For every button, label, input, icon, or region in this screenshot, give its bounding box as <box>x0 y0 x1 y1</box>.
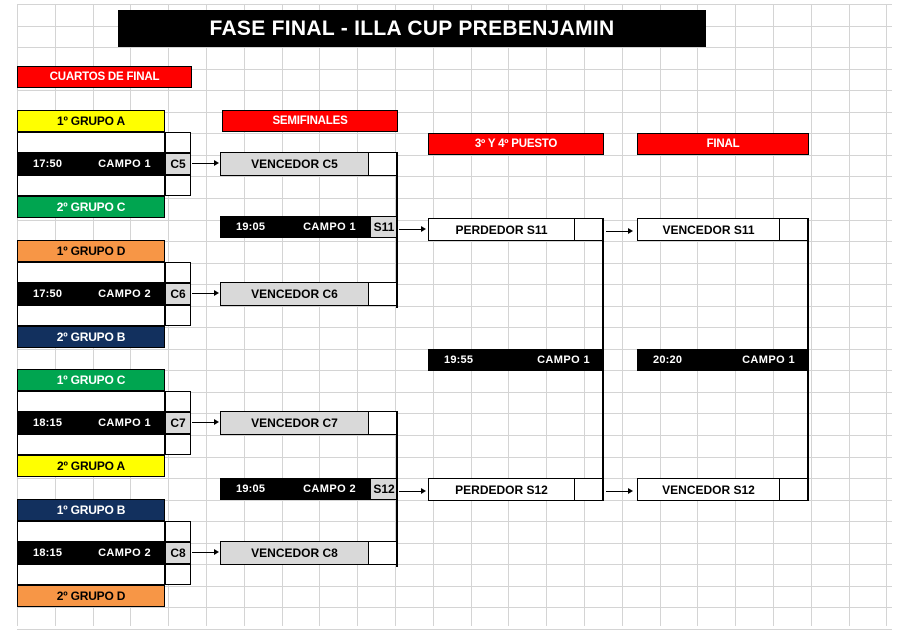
third-place-bottom-slot-label: PERDEDOR S12 <box>429 479 574 500</box>
third-place-bottom-score[interactable] <box>574 479 603 500</box>
arrow-c5-to-sf1-top <box>192 160 219 166</box>
qf-2-code-bottom-pad <box>165 305 191 326</box>
qf-1-code-bottom-pad <box>165 175 191 196</box>
sf-1-time: 19:05 <box>220 221 265 233</box>
final-bottom-slot-label: VENCEDOR S12 <box>638 479 779 500</box>
qf-2-bottom-team-label: 2º GRUPO B <box>57 330 125 344</box>
qf-2-top-team: 1º GRUPO D <box>17 240 165 262</box>
qf-1-field: CAMPO 1 <box>98 158 165 170</box>
qf-4-code-top-pad <box>165 521 191 542</box>
sf-1-bottom-slot-label: VENCEDOR C6 <box>221 283 368 305</box>
qf-3-top-score-cell[interactable] <box>17 391 165 412</box>
arrow-c7-to-sf2-top <box>192 419 219 425</box>
qf-1-bottom-team-label: 2º GRUPO C <box>57 200 125 214</box>
sf-2-code-label: S12 <box>373 482 394 496</box>
final-top-score[interactable] <box>779 219 808 240</box>
qf-4-code-label: C8 <box>170 546 185 560</box>
stage-header-semifinals-label: SEMIFINALES <box>272 115 347 127</box>
qf-1-code-top-pad <box>165 132 191 153</box>
qf-1-code-label: C5 <box>170 157 185 171</box>
stage-header-quarterfinals: CUARTOS DE FINAL <box>17 66 192 88</box>
stage-header-final: FINAL <box>637 133 809 155</box>
qf-1-matchbar: 17:50 CAMPO 1 <box>17 153 165 175</box>
qf-1-top-team-label: 1º GRUPO A <box>57 114 125 128</box>
sf-2-time: 19:05 <box>220 483 265 495</box>
third-place-top-slot: PERDEDOR S11 <box>428 218 604 241</box>
qf-2-field: CAMPO 2 <box>98 288 165 300</box>
sf-2-top-score[interactable] <box>368 412 397 434</box>
sf-2-matchbar: 19:05 CAMPO 2 <box>220 478 370 500</box>
qf-1-bottom-score-cell[interactable] <box>17 175 165 196</box>
stage-header-third-place: 3º Y 4º PUESTO <box>428 133 604 155</box>
qf-3-top-team: 1º GRUPO C <box>17 369 165 391</box>
qf-2-matchbar: 17:50 CAMPO 2 <box>17 283 165 305</box>
qf-3-field: CAMPO 1 <box>98 417 165 429</box>
qf-4-field: CAMPO 2 <box>98 547 165 559</box>
third-place-time: 19:55 <box>428 354 473 366</box>
sf-2-bottom-slot-label: VENCEDOR C8 <box>221 542 368 564</box>
stage-header-final-label: FINAL <box>707 138 740 150</box>
final-top-slot-label: VENCEDOR S11 <box>638 219 779 240</box>
sf-1-top-slot: VENCEDOR C5 <box>220 152 398 176</box>
stage-header-third-place-label: 3º Y 4º PUESTO <box>475 138 557 150</box>
sf-2-bottom-score[interactable] <box>368 542 397 564</box>
qf-3-bottom-team-label: 2º GRUPO A <box>57 459 125 473</box>
page-title: FASE FINAL - ILLA CUP PREBENJAMIN <box>118 10 706 47</box>
sf-2-top-slot-label: VENCEDOR C7 <box>221 412 368 434</box>
arrow-third-place-top <box>606 228 633 234</box>
sf-1-field: CAMPO 1 <box>303 221 370 233</box>
qf-2-top-team-label: 1º GRUPO D <box>57 244 125 258</box>
qf-4-bottom-team-label: 2º GRUPO D <box>57 589 125 603</box>
qf-3-code-bottom-pad <box>165 434 191 455</box>
sf-2-field: CAMPO 2 <box>303 483 370 495</box>
sf-1-matchbar: 19:05 CAMPO 1 <box>220 216 370 238</box>
qf-2-code: C6 <box>165 283 191 305</box>
final-matchbar: 20:20 CAMPO 1 <box>637 349 809 371</box>
qf-4-bottom-score-cell[interactable] <box>17 564 165 585</box>
qf-1-bottom-team: 2º GRUPO C <box>17 196 165 218</box>
arrow-s11-to-third-place <box>399 226 426 232</box>
final-field: CAMPO 1 <box>742 354 809 366</box>
qf-3-code-label: C7 <box>170 416 185 430</box>
tournament-bracket-sheet: FASE FINAL - ILLA CUP PREBENJAMIN CUARTO… <box>0 0 897 636</box>
qf-4-top-team-label: 1º GRUPO B <box>57 503 125 517</box>
qf-2-time: 17:50 <box>17 288 62 300</box>
qf-2-bottom-team: 2º GRUPO B <box>17 326 165 348</box>
qf-3-matchbar: 18:15 CAMPO 1 <box>17 412 165 434</box>
qf-3-bottom-score-cell[interactable] <box>17 434 165 455</box>
qf-1-top-score-cell[interactable] <box>17 132 165 153</box>
qf-4-code-bottom-pad <box>165 564 191 585</box>
qf-1-time: 17:50 <box>17 158 62 170</box>
qf-3-time: 18:15 <box>17 417 62 429</box>
arrow-s12-to-third-place <box>399 488 426 494</box>
arrow-c6-to-sf1-bottom <box>192 290 219 296</box>
third-place-top-score[interactable] <box>574 219 603 240</box>
qf-1-top-team: 1º GRUPO A <box>17 110 165 132</box>
third-place-field: CAMPO 1 <box>537 354 604 366</box>
sf-1-bracket-line <box>396 152 398 308</box>
third-place-bracket-line <box>602 218 604 501</box>
page-title-text: FASE FINAL - ILLA CUP PREBENJAMIN <box>209 17 614 41</box>
sf-1-bottom-slot: VENCEDOR C6 <box>220 282 398 306</box>
stage-header-quarterfinals-label: CUARTOS DE FINAL <box>50 71 160 83</box>
qf-2-top-score-cell[interactable] <box>17 262 165 283</box>
qf-3-top-team-label: 1º GRUPO C <box>57 373 125 387</box>
third-place-top-slot-label: PERDEDOR S11 <box>429 219 574 240</box>
arrow-c8-to-sf2-bottom <box>192 549 219 555</box>
sf-2-bottom-slot: VENCEDOR C8 <box>220 541 398 565</box>
qf-3-code: C7 <box>165 412 191 434</box>
sf-2-bracket-line <box>396 411 398 567</box>
qf-4-code: C8 <box>165 542 191 564</box>
sf-1-bottom-score[interactable] <box>368 283 397 305</box>
qf-2-bottom-score-cell[interactable] <box>17 305 165 326</box>
qf-2-code-top-pad <box>165 262 191 283</box>
qf-1-code: C5 <box>165 153 191 175</box>
sf-2-code: S12 <box>370 478 398 500</box>
final-bottom-score[interactable] <box>779 479 808 500</box>
final-top-slot: VENCEDOR S11 <box>637 218 809 241</box>
qf-4-top-score-cell[interactable] <box>17 521 165 542</box>
qf-3-bottom-team: 2º GRUPO A <box>17 455 165 477</box>
final-time: 20:20 <box>637 354 682 366</box>
qf-4-top-team: 1º GRUPO B <box>17 499 165 521</box>
third-place-bottom-slot: PERDEDOR S12 <box>428 478 604 501</box>
sf-2-top-slot: VENCEDOR C7 <box>220 411 398 435</box>
qf-3-code-top-pad <box>165 391 191 412</box>
qf-2-code-label: C6 <box>170 287 185 301</box>
final-bottom-slot: VENCEDOR S12 <box>637 478 809 501</box>
arrow-third-place-bottom <box>606 488 633 494</box>
qf-4-matchbar: 18:15 CAMPO 2 <box>17 542 165 564</box>
sf-1-top-slot-label: VENCEDOR C5 <box>221 153 368 175</box>
qf-4-bottom-team: 2º GRUPO D <box>17 585 165 607</box>
stage-header-semifinals: SEMIFINALES <box>222 110 398 132</box>
sf-1-code: S11 <box>370 216 398 238</box>
sf-1-code-label: S11 <box>374 220 395 234</box>
sf-1-top-score[interactable] <box>368 153 397 175</box>
third-place-matchbar: 19:55 CAMPO 1 <box>428 349 604 371</box>
final-bracket-line <box>807 218 809 501</box>
qf-4-time: 18:15 <box>17 547 62 559</box>
